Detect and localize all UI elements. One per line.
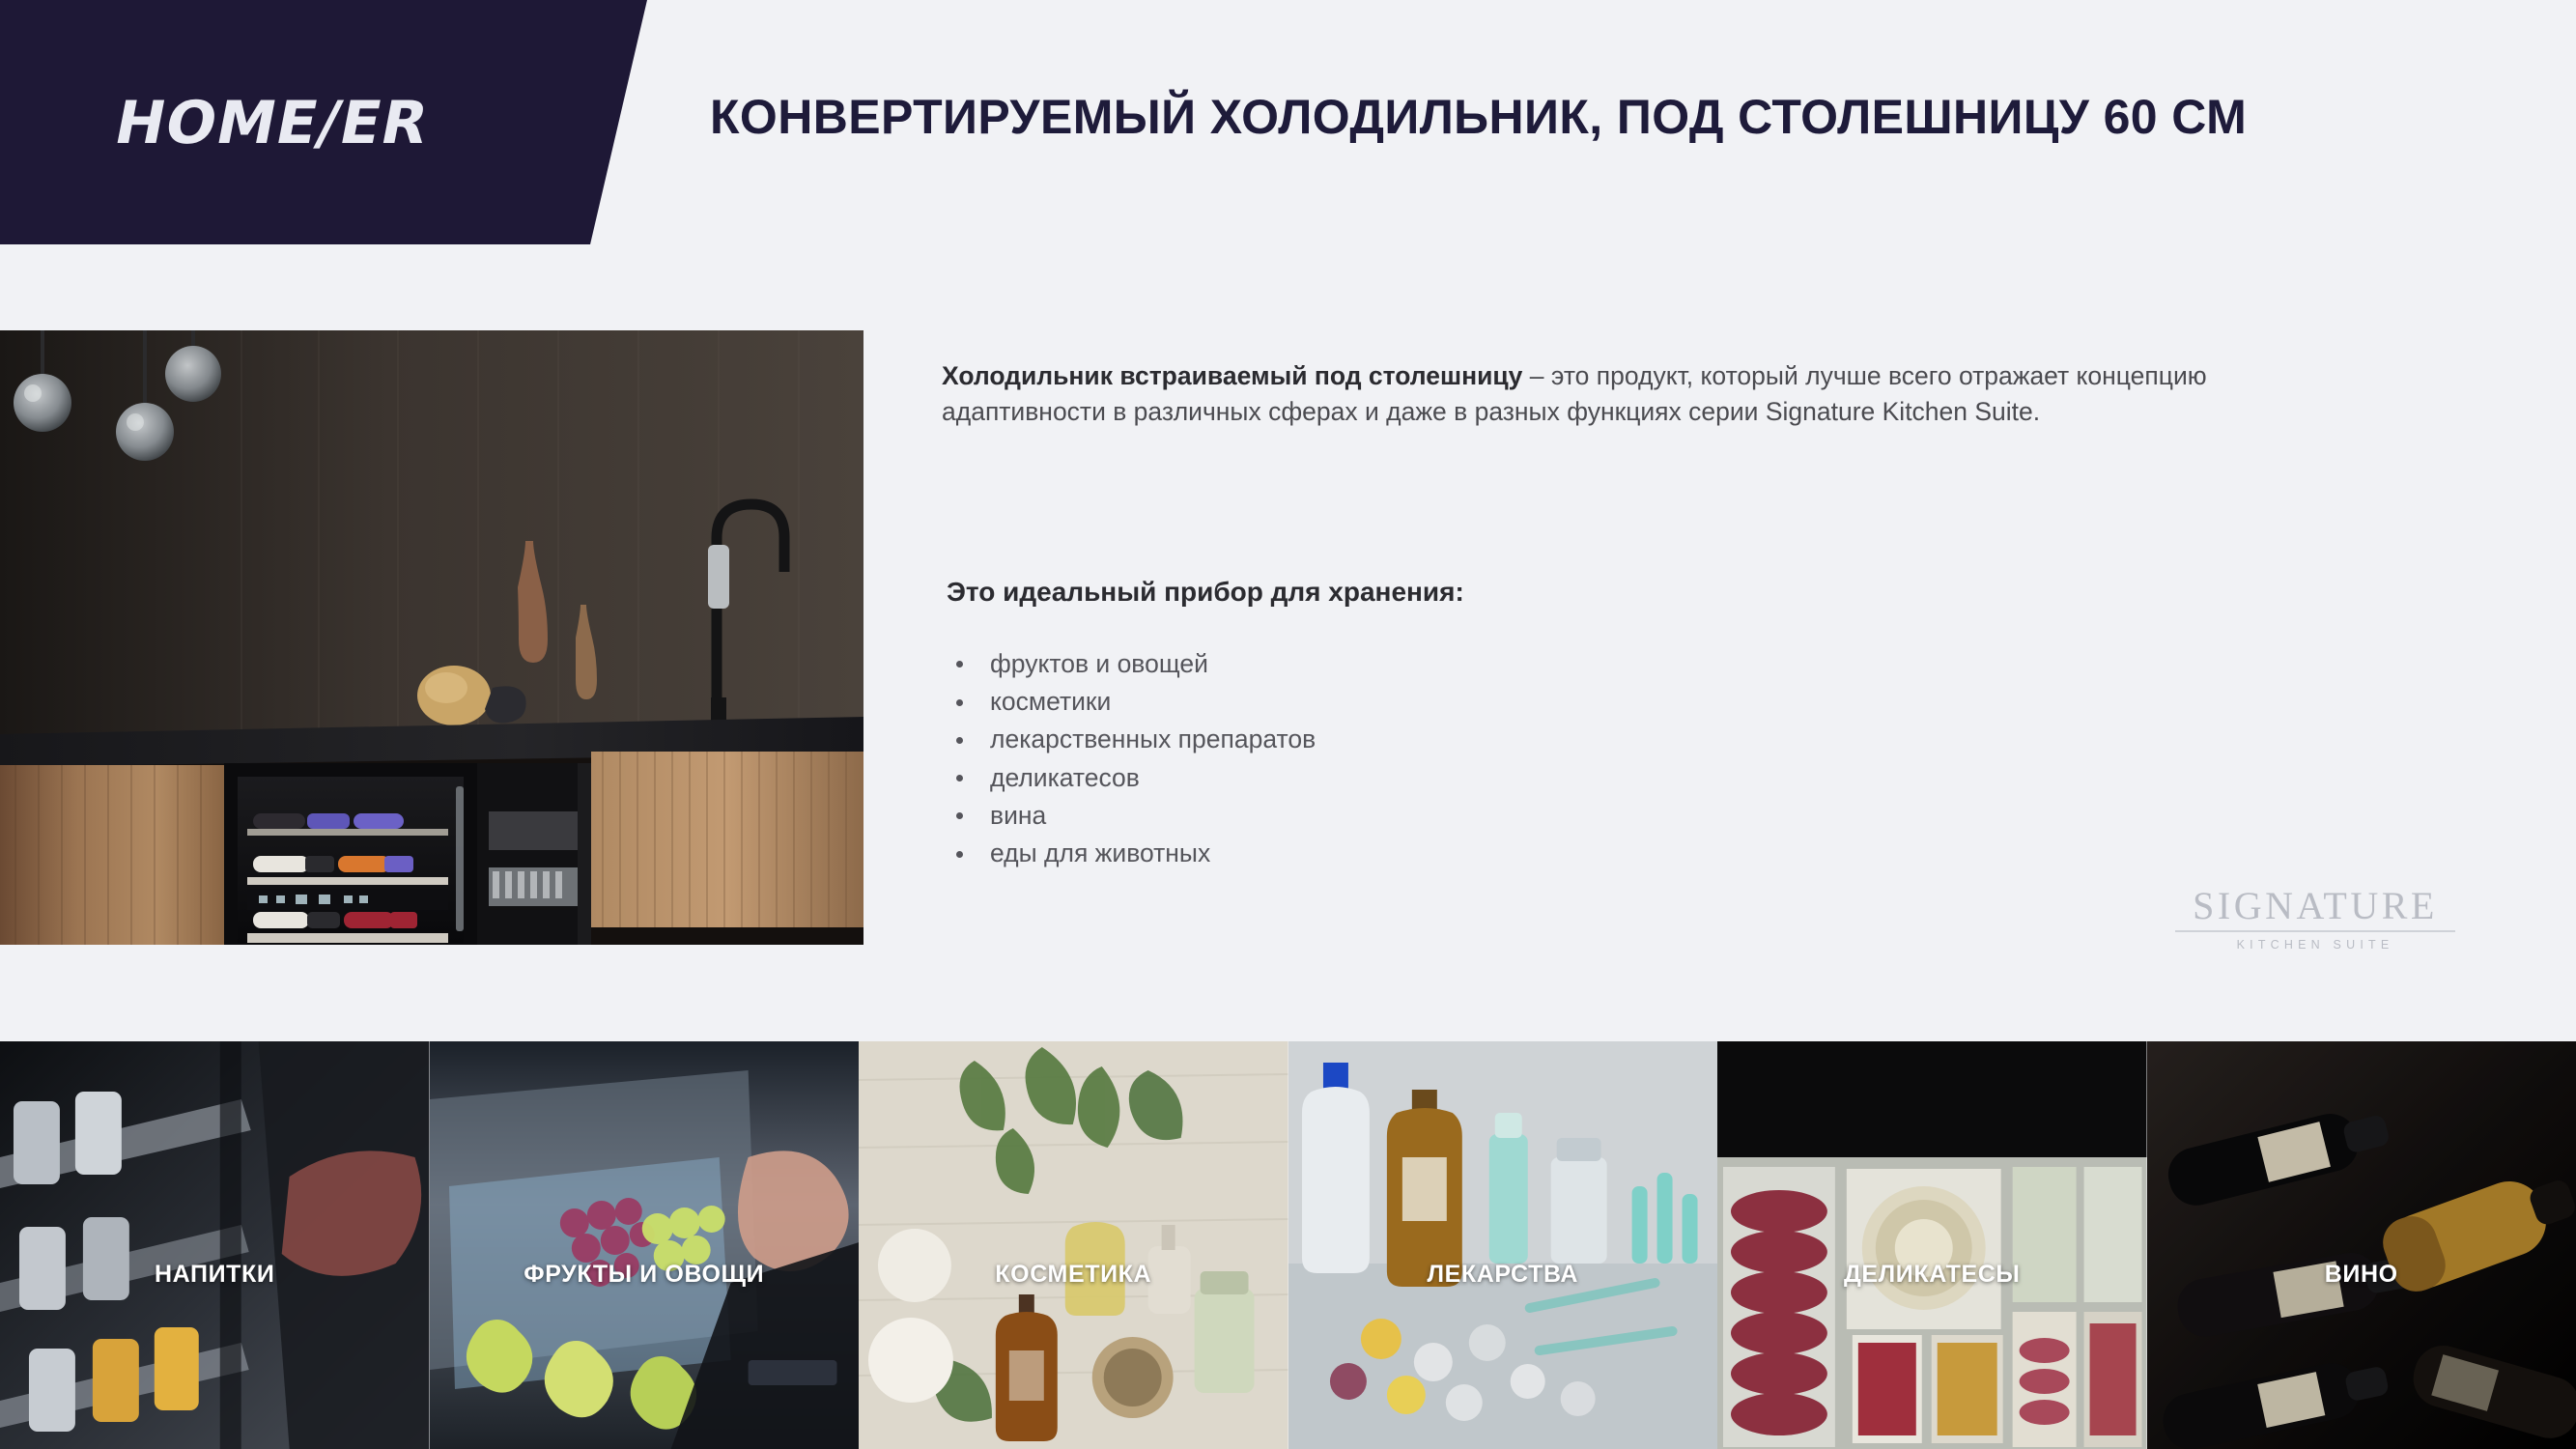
category-panel-cosmetics[interactable]: КОСМЕТИКА (859, 1041, 1288, 1449)
bullet-dot-icon (956, 812, 963, 819)
list-item-label: фруктов и овощей (990, 649, 1208, 678)
storage-heading: Это идеальный прибор для хранения: (947, 577, 1464, 608)
bullet-dot-icon (956, 851, 963, 858)
list-item: еды для животных (947, 835, 1316, 872)
list-item: деликатесов (947, 759, 1316, 797)
category-panel-delicatessen[interactable]: ДЕЛИКАТЕСЫ (1717, 1041, 2147, 1449)
category-panel-drinks[interactable]: НАПИТКИ (0, 1041, 430, 1449)
list-item-label: вина (990, 801, 1046, 830)
cosmetics-photo (859, 1041, 1288, 1449)
bullet-dot-icon (956, 661, 963, 668)
list-item-label: лекарственных препаратов (990, 724, 1316, 753)
category-caption: НАПИТКИ (0, 1261, 430, 1289)
category-image-strip: НАПИТКИ (0, 1041, 2576, 1449)
category-panel-medicines[interactable]: ЛЕКАРСТВА (1288, 1041, 1718, 1449)
list-item: косметики (947, 683, 1316, 721)
category-caption: ДЕЛИКАТЕСЫ (1717, 1261, 2147, 1289)
bullet-dot-icon (956, 737, 963, 744)
sks-subtitle: KITCHEN SUITE (2175, 938, 2455, 952)
list-item-label: еды для животных (990, 838, 1210, 867)
kitchen-hero-image (0, 330, 863, 945)
category-caption: КОСМЕТИКА (859, 1261, 1288, 1289)
list-item-label: деликатесов (990, 763, 1140, 792)
medicines-photo (1288, 1041, 1718, 1449)
storage-list: фруктов и овощей косметики лекарственных… (947, 645, 1316, 872)
sks-divider (2175, 930, 2455, 932)
list-item: вина (947, 797, 1316, 835)
brand-logo-homeier: HOME/ER (109, 89, 435, 157)
kitchen-scene-illustration (0, 330, 863, 945)
fruits-vegetables-photo (430, 1041, 860, 1449)
page-title: КОНВЕРТИРУЕМЫЙ ХОЛОДИЛЬНИК, ПОД СТОЛЕШНИ… (710, 89, 2247, 145)
category-panel-fruits-vegetables[interactable]: ФРУКТЫ И ОВОЩИ (430, 1041, 860, 1449)
intro-paragraph: Холодильник встраиваемый под столешницу … (942, 358, 2270, 431)
signature-kitchen-suite-logo: SIGNATURE KITCHEN SUITE (2175, 887, 2455, 952)
list-item: лекарственных препаратов (947, 721, 1316, 758)
drinks-photo (0, 1041, 430, 1449)
category-caption: ВИНО (2147, 1261, 2576, 1289)
list-item: фруктов и овощей (947, 645, 1316, 683)
bullet-dot-icon (956, 775, 963, 781)
category-panel-wine[interactable]: ВИНО (2147, 1041, 2576, 1449)
delicatessen-photo (1717, 1041, 2147, 1449)
bullet-dot-icon (956, 699, 963, 706)
page-header: HOME/ER КОНВЕРТИРУЕМЫЙ ХОЛОДИЛЬНИК, ПОД … (0, 0, 2576, 246)
sks-wordmark: SIGNATURE (2175, 887, 2455, 925)
intro-lead: Холодильник встраиваемый под столешницу (942, 361, 1522, 390)
list-item-label: косметики (990, 687, 1111, 716)
category-caption: ЛЕКАРСТВА (1288, 1261, 1718, 1289)
category-caption: ФРУКТЫ И ОВОЩИ (430, 1261, 860, 1289)
wine-photo (2147, 1041, 2576, 1449)
